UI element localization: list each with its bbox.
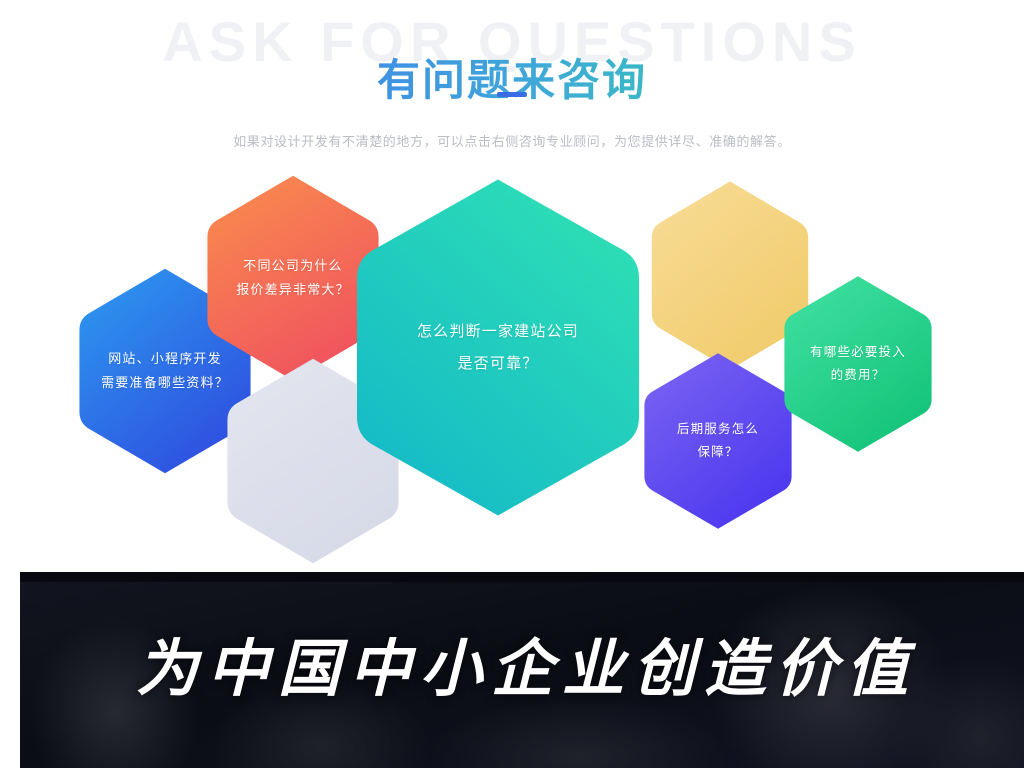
- faq-section: ASK FOR QUESTIONS 有问题来咨询 如果对设计开发有不清楚的地方，…: [0, 0, 1024, 572]
- hexagon-shape-icon: [778, 273, 938, 455]
- hexagon-shape-icon: [348, 175, 648, 520]
- bottom-banner: 为中国中小企业创造价值: [20, 572, 1024, 768]
- hexagon-card-question-support[interactable]: 后期服务怎么 保障？: [638, 350, 798, 532]
- hexagon-card-question-reliability[interactable]: 怎么判断一家建站公司 是否可靠？: [348, 175, 648, 520]
- banner-tagline: 为中国中小企业创造价值: [20, 639, 1024, 701]
- page-subtitle: 如果对设计开发有不清楚的地方，可以点击右侧咨询专业顾问，为您提供详尽、准确的解答…: [0, 131, 1024, 150]
- title-underline-divider: [497, 92, 527, 97]
- page-title: 有问题来咨询: [0, 57, 1024, 106]
- hexagon-cluster: 网站、小程序开发 需要准备哪些资料？ 不同公司为什么 报价差异非常大？: [0, 150, 1024, 572]
- hexagon-card-question-cost[interactable]: 有哪些必要投入 的费用？: [778, 273, 938, 455]
- hexagon-shape-icon: [638, 350, 798, 532]
- faq-header: ASK FOR QUESTIONS 有问题来咨询 如果对设计开发有不清楚的地方，…: [0, 0, 1024, 150]
